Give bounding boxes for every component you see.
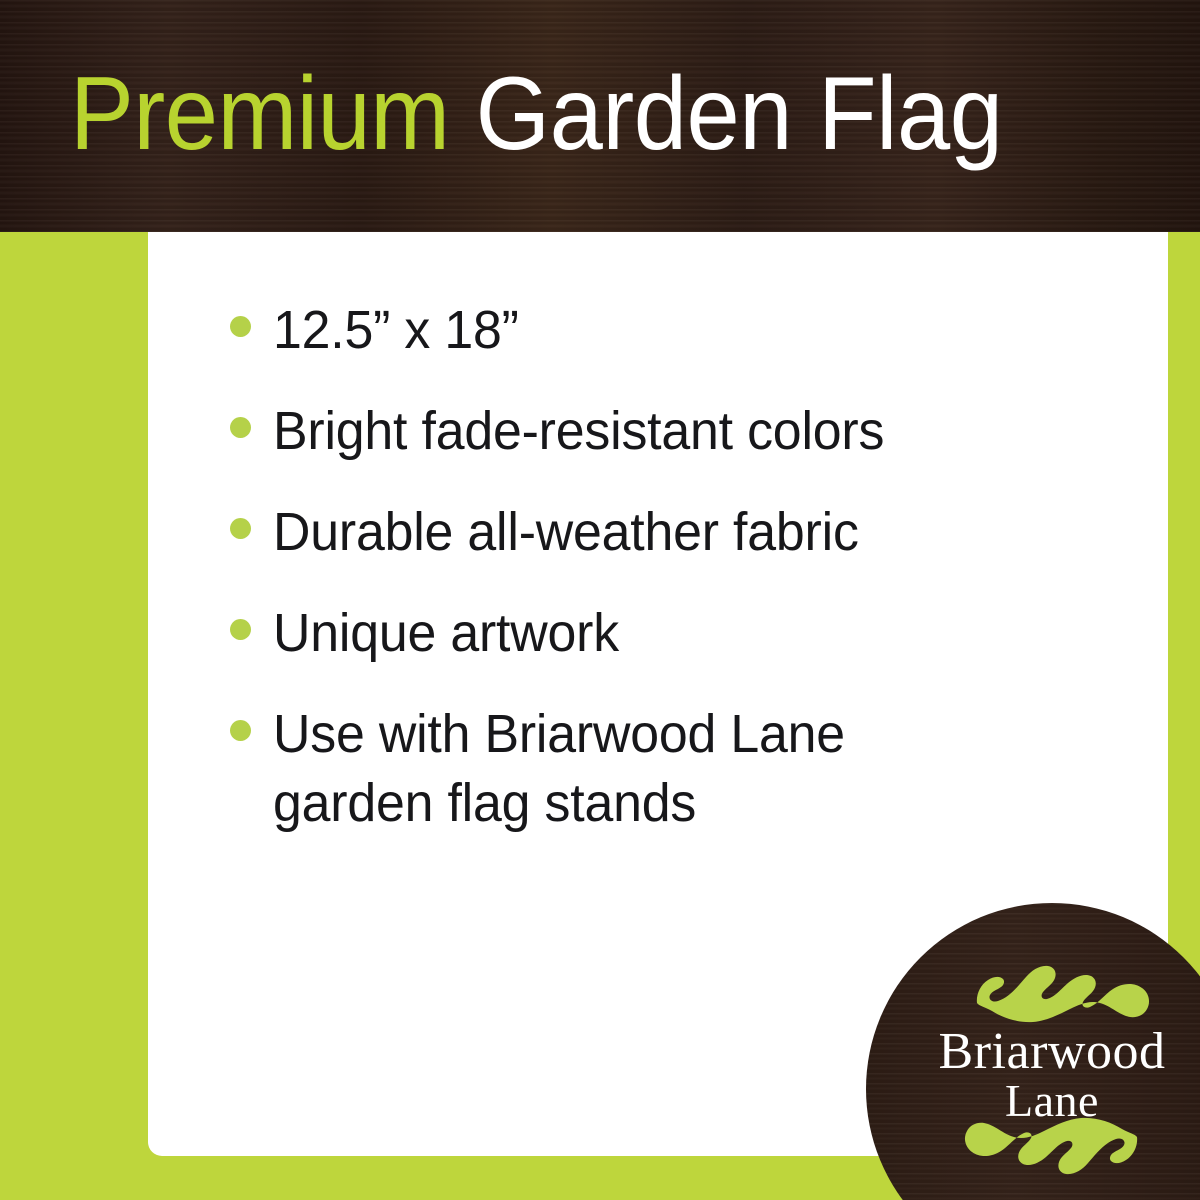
- list-item-label: Bright fade-resistant colors: [273, 397, 884, 466]
- bullet-dot-icon: [230, 316, 251, 337]
- bullet-dot-icon: [230, 518, 251, 539]
- product-feature-card: Premium Garden Flag Premium Outdoor Deco…: [0, 0, 1200, 1200]
- page-title-accent: Premium: [70, 56, 450, 172]
- page-title-main: Garden Flag: [450, 56, 1003, 172]
- list-item-label: Use with Briarwood Lane garden flag stan…: [273, 700, 845, 837]
- list-item: Bright fade-resistant colors: [230, 397, 910, 466]
- oak-leaf-icon: [970, 951, 1156, 1029]
- list-item: Use with Briarwood Lane garden flag stan…: [230, 700, 869, 837]
- list-item-label: 12.5” x 18”: [273, 296, 519, 365]
- sidebar-rail: Premium Outdoor Decor: [0, 232, 148, 1200]
- oak-leaf-icon: [958, 1111, 1144, 1189]
- bullet-dot-icon: [230, 417, 251, 438]
- list-item: Durable all-weather fabric: [230, 498, 883, 567]
- list-item-label: Unique artwork: [273, 599, 619, 668]
- header-band: Premium Garden Flag: [0, 0, 1200, 232]
- brand-name: Briarwood: [866, 1025, 1200, 1079]
- bullet-dot-icon: [230, 619, 251, 640]
- list-item: Unique artwork: [230, 599, 633, 668]
- list-item-label: Durable all-weather fabric: [273, 498, 859, 567]
- bullet-dot-icon: [230, 720, 251, 741]
- list-item: 12.5” x 18”: [230, 296, 529, 365]
- page-title: Premium Garden Flag: [70, 62, 1002, 166]
